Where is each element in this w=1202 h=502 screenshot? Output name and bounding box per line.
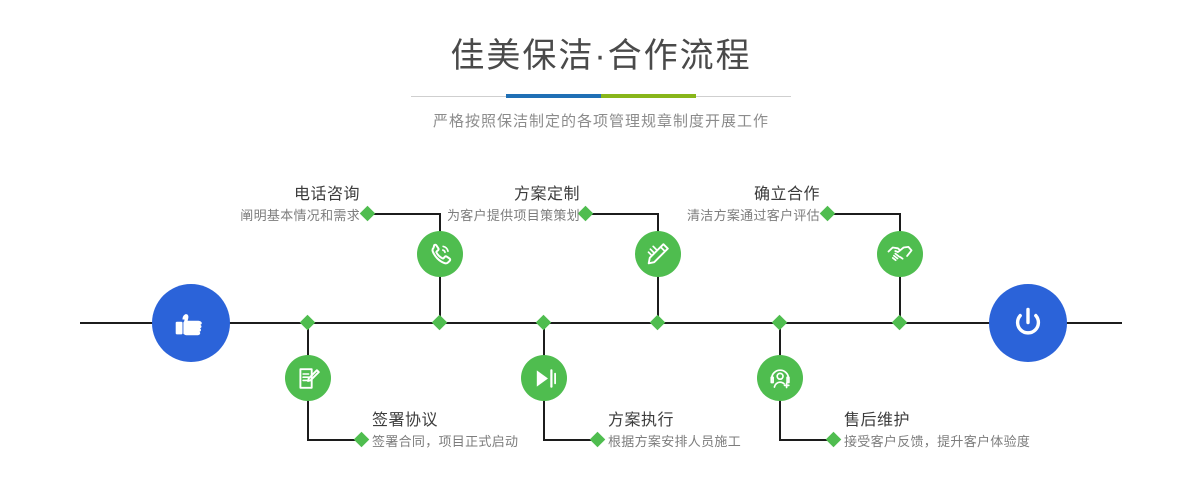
phone-call-icon: [426, 240, 454, 268]
step-title-5: 确立合作: [520, 184, 820, 206]
process-flow-infographic: 佳美保洁·合作流程 严格按照保洁制定的各项管理规章制度开展工作: [0, 0, 1202, 502]
power-icon: [1005, 300, 1051, 346]
pencil-plan-icon: [644, 240, 672, 268]
divider-segment-green: [601, 94, 696, 98]
handshake-icon: [886, 240, 914, 268]
divider-segment-blue: [506, 94, 601, 98]
axis-marker-5: [892, 315, 908, 331]
step-desc-6: 接受客户反馈，提升客户体验度: [844, 432, 1164, 452]
customer-service-icon: [767, 365, 794, 392]
header: 佳美保洁·合作流程 严格按照保洁制定的各项管理规章制度开展工作: [0, 34, 1202, 132]
step-desc-5: 清洁方案通过客户评估: [520, 206, 820, 226]
connector-horizontal-5: [827, 213, 901, 215]
page-title: 佳美保洁·合作流程: [0, 34, 1202, 78]
step-icon-1[interactable]: [417, 231, 463, 277]
title-divider: [411, 90, 791, 102]
axis-marker-6: [772, 315, 788, 331]
page-subtitle: 严格按照保洁制定的各项管理规章制度开展工作: [0, 112, 1202, 132]
timeline-start-endpoint: [152, 284, 230, 362]
axis-marker-1: [432, 315, 448, 331]
document-edit-icon: [295, 365, 322, 392]
axis-marker-2: [300, 315, 316, 331]
step-icon-2[interactable]: [285, 355, 331, 401]
axis-marker-4: [536, 315, 552, 331]
timeline-axis: [80, 322, 1122, 324]
label-marker-2: [354, 432, 370, 448]
step-label-6: 售后维护 接受客户反馈，提升客户体验度: [844, 410, 1164, 452]
step-icon-4[interactable]: [521, 355, 567, 401]
timeline: 电话咨询 阐明基本情况和需求: [0, 160, 1202, 502]
timeline-end-endpoint: [989, 284, 1067, 362]
label-marker-5: [820, 206, 836, 222]
step-icon-5[interactable]: [877, 231, 923, 277]
step-icon-3[interactable]: [635, 231, 681, 277]
step-title-6: 售后维护: [844, 410, 1164, 432]
pointing-hand-icon: [169, 301, 213, 345]
step-icon-6[interactable]: [757, 355, 803, 401]
step-label-5: 确立合作 清洁方案通过客户评估: [520, 184, 820, 226]
axis-marker-3: [650, 315, 666, 331]
play-execute-icon: [531, 365, 558, 392]
